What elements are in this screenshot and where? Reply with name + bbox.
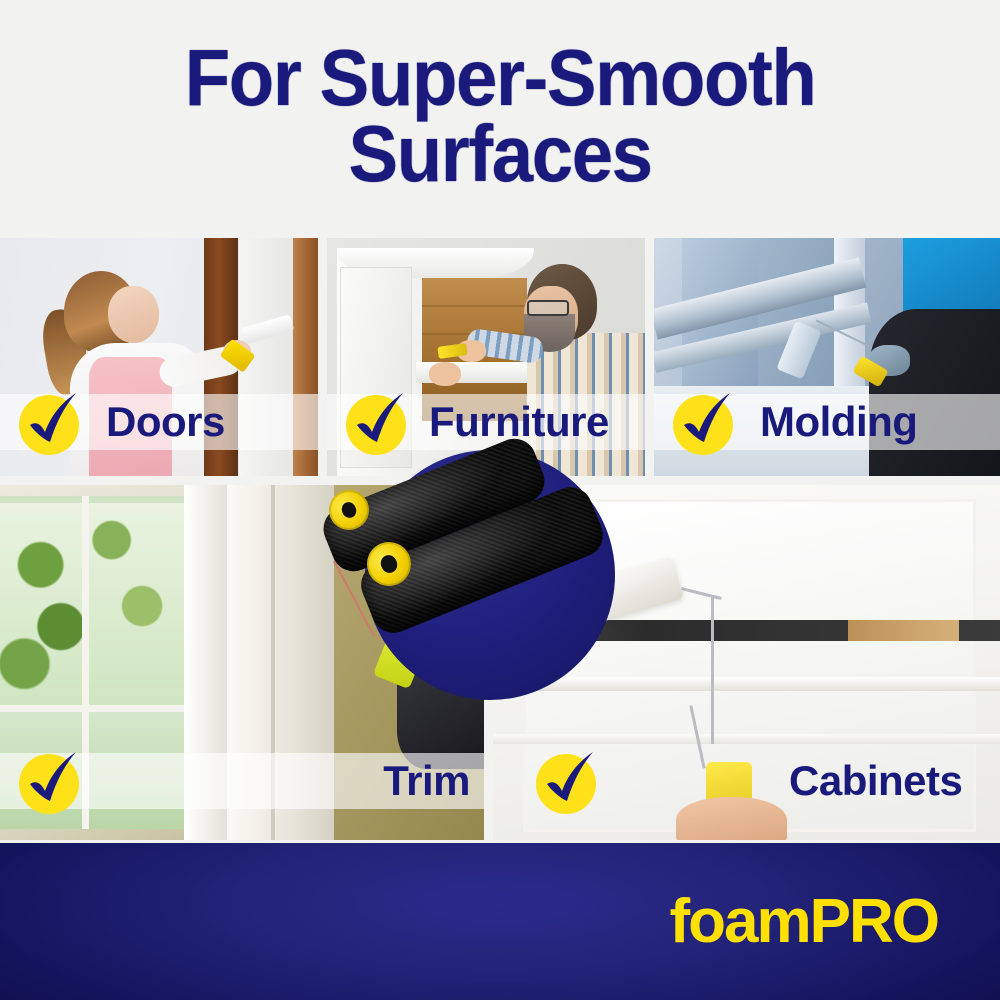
brand-logo[interactable]: foamPRO (670, 891, 939, 953)
cabinets-label-row: Cabinets (531, 747, 962, 815)
doors-label-row: Doors (14, 388, 225, 456)
page-title: For Super-Smooth Surfaces (147, 40, 852, 192)
panel-label-trim: Trim (383, 757, 470, 805)
check-icon (14, 387, 84, 457)
check-icon (14, 746, 84, 816)
brand-logo-upper: PRO (810, 887, 938, 956)
check-icon (668, 387, 738, 457)
roller-group (335, 420, 645, 730)
molding-label-row: Molding (668, 388, 917, 456)
foam-roller-product-badge[interactable] (365, 450, 615, 700)
panel-molding[interactable]: Molding (654, 238, 1000, 476)
trim-label-row: Trim (14, 747, 470, 815)
check-icon (531, 746, 601, 816)
product-infographic: For Super-Smooth Surfaces (0, 0, 1000, 1000)
panel-doors[interactable]: Doors (0, 238, 318, 476)
panel-label-doors: Doors (106, 398, 225, 446)
panel-label-cabinets: Cabinets (789, 757, 962, 805)
footer: foamPRO (0, 843, 1000, 1000)
brand-logo-lower: foam (670, 887, 810, 956)
check-icon (341, 387, 411, 457)
headline-line-2: Surfaces (348, 109, 651, 198)
panel-label-molding: Molding (760, 398, 917, 446)
header: For Super-Smooth Surfaces (0, 0, 1000, 232)
